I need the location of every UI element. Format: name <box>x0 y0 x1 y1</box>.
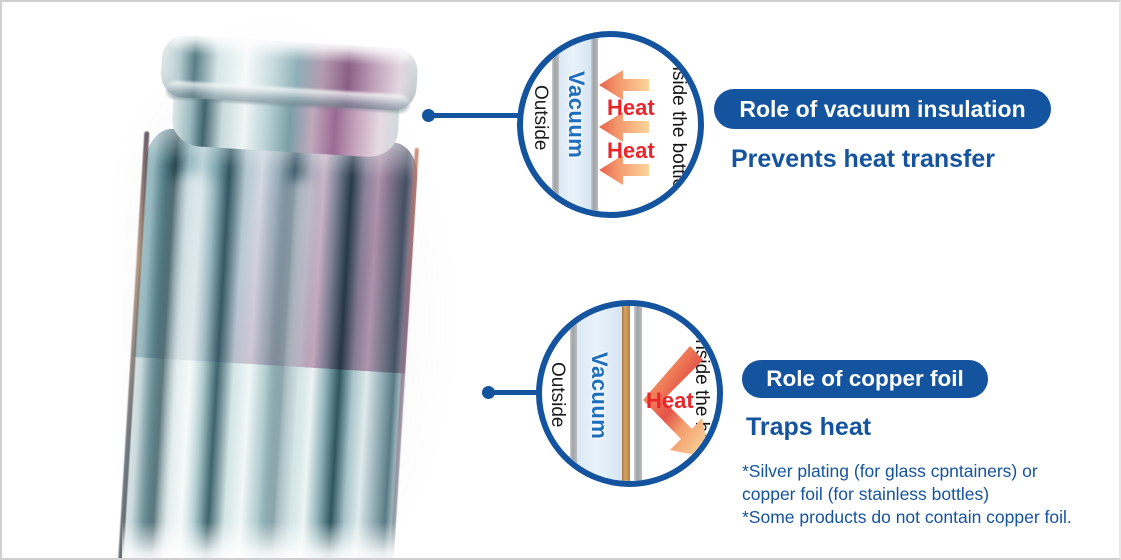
bottle-illustration <box>2 2 472 560</box>
diagram-copper-foil: Outside Vacuum Inside the bottle Hea <box>536 300 723 487</box>
footnotes-copper-foil: *Silver plating (for glass cpntainers) o… <box>742 460 1102 529</box>
heat-label: Heat <box>646 388 694 414</box>
bottle-graphic <box>109 19 442 560</box>
diagram-vacuum-insulation: Outside Vacuum Inside the bottle <box>517 31 704 218</box>
headline-prevents-heat-transfer: Prevents heat transfer <box>731 145 995 174</box>
headline-traps-heat: Traps heat <box>746 413 871 442</box>
heat-label: Heat <box>607 95 655 121</box>
heat-arrows-group <box>523 37 698 212</box>
badge-role-of-copper-foil: Role of copper foil <box>742 360 988 398</box>
bottle-bottom-fade <box>122 522 462 560</box>
heat-label: Heat <box>607 138 655 164</box>
infographic-canvas: Outside Vacuum Inside the bottle <box>0 0 1121 560</box>
badge-role-of-vacuum-insulation: Role of vacuum insulation <box>714 89 1051 129</box>
connector-vacuum-insulation <box>422 108 532 124</box>
